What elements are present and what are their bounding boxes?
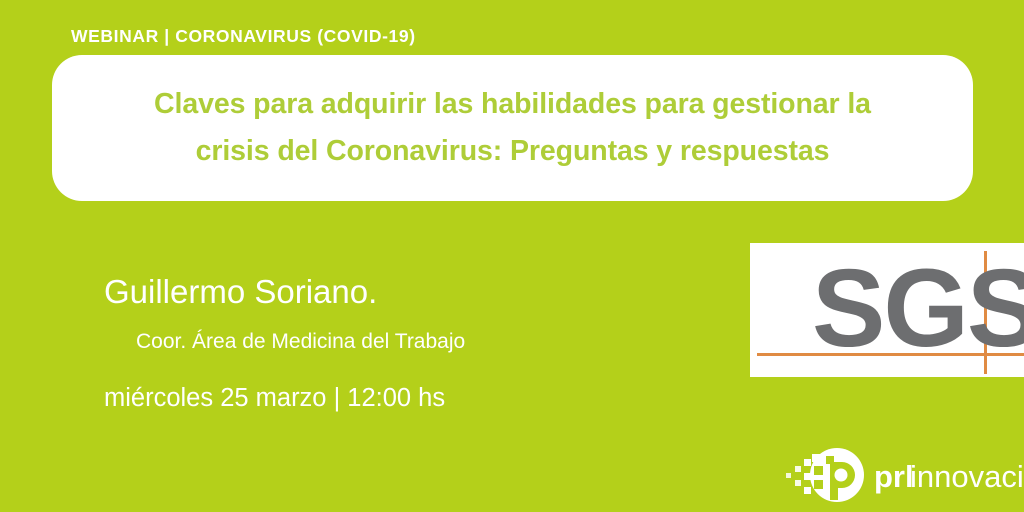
prl-word-bold: prl bbox=[874, 459, 914, 494]
title-card: Claves para adquirir las habilidades par… bbox=[52, 55, 973, 201]
prl-word-light: innovación bbox=[910, 459, 1024, 494]
prl-circle-mark-icon bbox=[810, 448, 864, 502]
sgs-wordmark: SGS bbox=[812, 250, 1024, 368]
speaker-role: Coor. Área de Medicina del Trabajo bbox=[136, 328, 465, 356]
sgs-logo-panel: SGS bbox=[750, 243, 1024, 377]
prl-pixel-dots-icon bbox=[786, 459, 811, 494]
prlinnovacion-logo: prl innovación bbox=[784, 444, 1024, 506]
webinar-title-line-1: Claves para adquirir las habilidades par… bbox=[80, 81, 945, 128]
webinar-category-header: WEBINAR | CORONAVIRUS (COVID-19) bbox=[71, 25, 416, 47]
webinar-title-line-2: crisis del Coronavirus: Preguntas y resp… bbox=[80, 128, 945, 175]
speaker-name: Guillermo Soriano. bbox=[104, 272, 377, 312]
webinar-promo-poster: WEBINAR | CORONAVIRUS (COVID-19) Claves … bbox=[0, 0, 1024, 512]
prlinnovacion-logo-svg: prl innovación bbox=[784, 444, 1024, 506]
title-card-inner: Claves para adquirir las habilidades par… bbox=[52, 81, 973, 175]
event-datetime: miércoles 25 marzo | 12:00 hs bbox=[104, 382, 445, 414]
